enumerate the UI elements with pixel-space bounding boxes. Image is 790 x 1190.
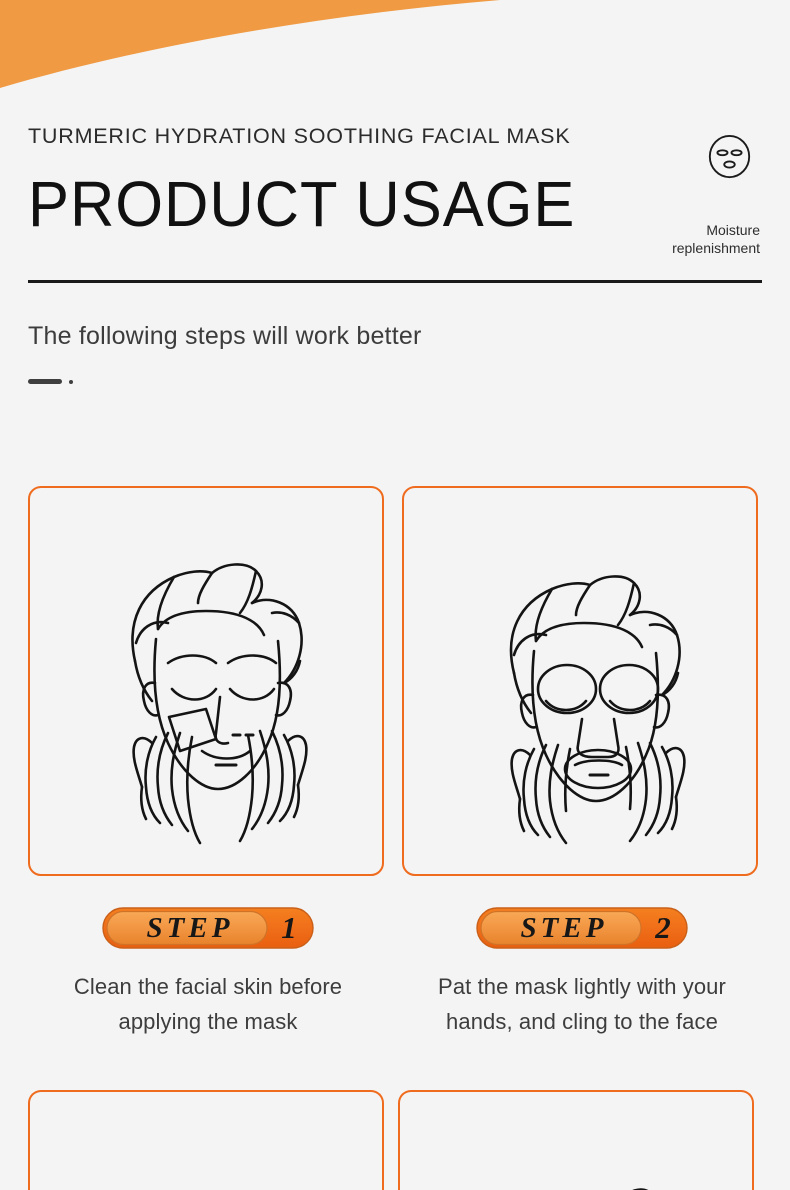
step-2-caption: Pat the mask lightly with your hands, an… bbox=[402, 969, 762, 1039]
step-1-badge: STEP 1 bbox=[102, 907, 314, 949]
steps-grid: STEP 1 Clean the facial skin before appl… bbox=[28, 486, 762, 1039]
woman-patting-sheet-mask-illustration bbox=[430, 511, 730, 851]
step-2-illustration-card bbox=[402, 486, 758, 876]
page-subtitle: The following steps will work better bbox=[28, 322, 421, 351]
step-1-badge-wrap: STEP 1 bbox=[28, 907, 388, 953]
badge-caption-line1: Moisture bbox=[612, 222, 760, 240]
dash-dot-decoration bbox=[28, 376, 98, 388]
product-usage-page: TURMERIC HYDRATION SOOTHING FACIAL MASK … bbox=[0, 0, 790, 1190]
badge-caption: Moisture replenishment bbox=[612, 222, 760, 257]
steps-row-2-partial bbox=[28, 1090, 754, 1190]
step-2-caption-line1: Pat the mask lightly with your bbox=[402, 969, 762, 1004]
face-mask-icon bbox=[707, 134, 752, 179]
step-2-word: STEP bbox=[521, 912, 608, 944]
step-card-2: STEP 2 Pat the mask lightly with your ha… bbox=[402, 486, 762, 1039]
header-swoosh-decoration bbox=[0, 0, 790, 110]
badge-caption-line2: replenishment bbox=[612, 240, 760, 258]
step-1-caption-line1: Clean the facial skin before bbox=[28, 969, 388, 1004]
page-eyebrow: TURMERIC HYDRATION SOOTHING FACIAL MASK bbox=[28, 126, 762, 148]
step-2-badge-wrap: STEP 2 bbox=[402, 907, 762, 953]
step-4-illustration-card-partial bbox=[398, 1090, 754, 1190]
dash-mark bbox=[28, 379, 62, 384]
header-text-block: TURMERIC HYDRATION SOOTHING FACIAL MASK … bbox=[28, 126, 762, 236]
step-2-badge: STEP 2 bbox=[476, 907, 688, 949]
step-3-illustration-card-partial bbox=[28, 1090, 384, 1190]
woman-cleansing-face-illustration bbox=[56, 511, 356, 851]
step-2-number: 2 bbox=[654, 910, 671, 945]
step-2-caption-line2: hands, and cling to the face bbox=[402, 1004, 762, 1039]
step-1-caption-line2: applying the mask bbox=[28, 1004, 388, 1039]
steps-row-1: STEP 1 Clean the facial skin before appl… bbox=[28, 486, 762, 1039]
towel-illustration-partial bbox=[426, 1106, 726, 1190]
step-1-caption: Clean the facial skin before applying th… bbox=[28, 969, 388, 1039]
dot-mark bbox=[69, 380, 73, 384]
step-1-word: STEP bbox=[147, 912, 234, 944]
step-1-illustration-card bbox=[28, 486, 384, 876]
step-1-number: 1 bbox=[281, 910, 297, 945]
header-divider-rule bbox=[28, 280, 762, 283]
step-card-1: STEP 1 Clean the facial skin before appl… bbox=[28, 486, 388, 1039]
